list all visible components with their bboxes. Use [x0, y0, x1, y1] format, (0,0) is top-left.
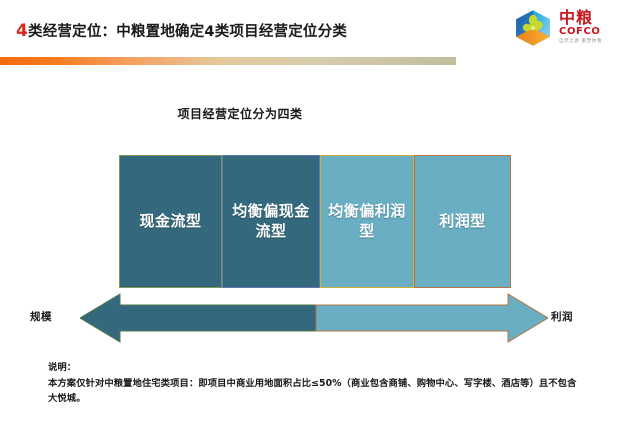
page-title-accent-number: 4	[16, 21, 28, 41]
brand-logo: 中粮 COFCO 自然之源 重塑你我	[512, 7, 620, 49]
logo-chinese-name: 中粮	[559, 9, 621, 26]
section-subtitle: 项目经营定位分为四类	[0, 105, 480, 122]
category-block-label: 均衡偏利润型	[326, 202, 408, 240]
category-block-group: 现金流型 均衡偏现金流型 均衡偏利润型 利润型	[119, 155, 511, 288]
footnote-body: 本方案仅针对中粮置地住宅类项目：即项目中商业用地面积占比≤50%（商业包含商铺、…	[48, 376, 578, 407]
category-block-label: 利润型	[439, 212, 486, 231]
category-block-balanced-cash-flow[interactable]: 均衡偏现金流型	[222, 155, 320, 288]
spectrum-arrow-row: 规模 利润	[0, 292, 627, 344]
footnote: 说明： 本方案仅针对中粮置地住宅类项目：即项目中商业用地面积占比≤50%（商业包…	[48, 360, 578, 407]
cofco-cube-logo-icon	[512, 8, 554, 48]
spectrum-label-scale: 规模	[30, 309, 52, 324]
category-block-cash-flow[interactable]: 现金流型	[119, 155, 222, 288]
double-headed-arrow-icon	[80, 292, 548, 344]
spectrum-label-profit: 利润	[551, 309, 573, 324]
logo-tagline: 自然之源 重塑你我	[559, 38, 618, 45]
page-title-text: 类经营定位：中粮置地确定4类项目经营定位分类	[28, 24, 347, 40]
header-accent-bar	[0, 57, 456, 65]
page-title: 4类经营定位：中粮置地确定4类项目经营定位分类	[16, 20, 347, 41]
category-block-label: 现金流型	[139, 212, 201, 231]
logo-wordmark: 中粮 COFCO 自然之源 重塑你我	[559, 9, 621, 45]
category-block-label: 均衡偏现金流型	[228, 202, 314, 240]
category-block-balanced-profit[interactable]: 均衡偏利润型	[320, 155, 414, 288]
logo-english-name: COFCO	[559, 26, 621, 38]
category-block-profit[interactable]: 利润型	[414, 155, 511, 288]
footnote-label: 说明：	[48, 360, 578, 376]
